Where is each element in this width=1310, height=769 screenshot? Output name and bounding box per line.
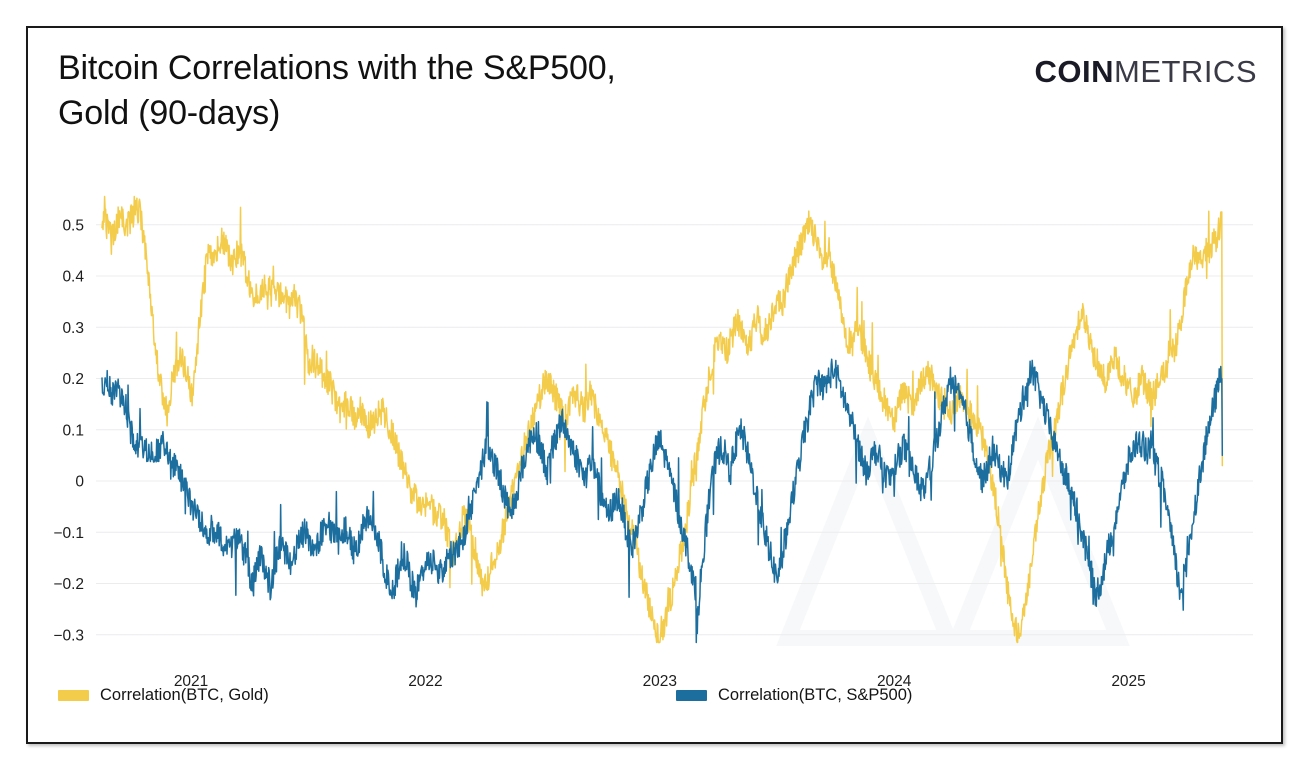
chart-page: Bitcoin Correlations with the S&P500, Go…: [0, 0, 1310, 769]
legend-swatch-sp500: [676, 690, 707, 701]
legend-label-sp500: Correlation(BTC, S&P500): [718, 686, 912, 705]
y-axis-tick-label: −0.1: [53, 525, 84, 542]
y-axis-tick-label: 0.3: [62, 320, 84, 337]
correlation-line-chart: 0.50.40.30.20.10−0.1−0.2−0.3 20212022202…: [28, 28, 1285, 746]
chart-legend: Correlation(BTC, Gold) Correlation(BTC, …: [28, 686, 1285, 716]
y-axis-tick-label: 0.4: [62, 269, 84, 286]
legend-item-gold[interactable]: Correlation(BTC, Gold): [58, 686, 269, 705]
y-axis-tick-label: −0.3: [53, 627, 84, 644]
plot-container: 0.50.40.30.20.10−0.1−0.2−0.3 20212022202…: [28, 28, 1285, 746]
y-axis-labels-group: 0.50.40.30.20.10−0.1−0.2−0.3: [53, 217, 84, 644]
series-group: [102, 197, 1222, 643]
chart-frame: Bitcoin Correlations with the S&P500, Go…: [26, 26, 1283, 744]
y-axis-tick-label: 0.1: [62, 422, 84, 439]
legend-item-sp500[interactable]: Correlation(BTC, S&P500): [676, 686, 912, 705]
y-axis-tick-label: 0: [75, 474, 84, 491]
legend-swatch-gold: [58, 690, 89, 701]
series-line-sp500: [102, 359, 1222, 642]
y-axis-tick-label: −0.2: [53, 576, 84, 593]
y-axis-tick-label: 0.2: [62, 371, 84, 388]
legend-label-gold: Correlation(BTC, Gold): [100, 686, 269, 705]
y-axis-tick-label: 0.5: [62, 217, 84, 234]
